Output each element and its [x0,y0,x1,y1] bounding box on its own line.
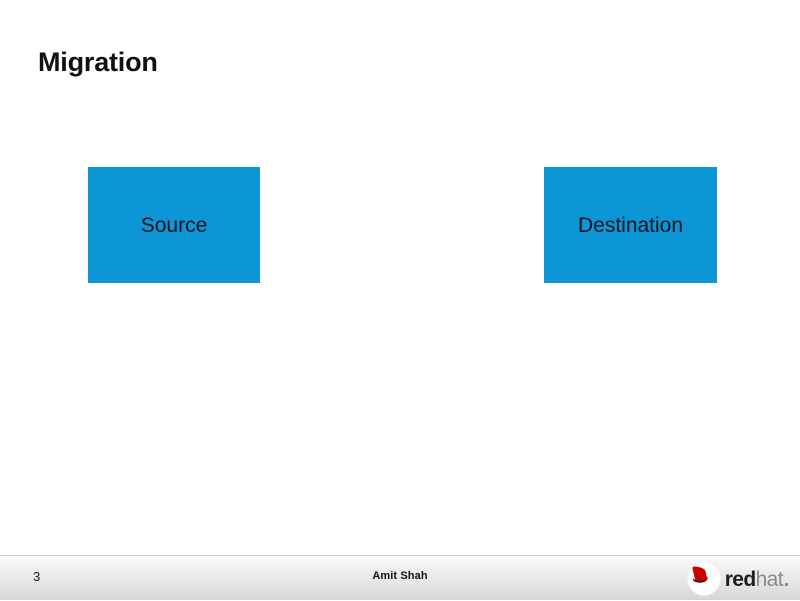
redhat-wordmark: red hat [725,569,788,590]
redhat-logo: red hat [687,560,788,598]
registered-trademark-dot-icon [785,583,788,586]
diagram-node-source-label: Source [141,215,208,236]
redhat-wordmark-red: red [725,569,756,590]
diagram-node-destination-label: Destination [578,215,683,236]
slide: Migration Source Destination 3 Amit Shah… [0,0,800,600]
redhat-shadowman-icon [687,562,721,596]
migration-diagram: Source Destination [0,0,800,555]
slide-footer: 3 Amit Shah red hat [0,555,800,600]
diagram-node-destination[interactable]: Destination [544,167,717,283]
diagram-node-source[interactable]: Source [88,167,260,283]
redhat-wordmark-hat: hat [756,569,783,590]
footer-author: Amit Shah [0,571,800,582]
